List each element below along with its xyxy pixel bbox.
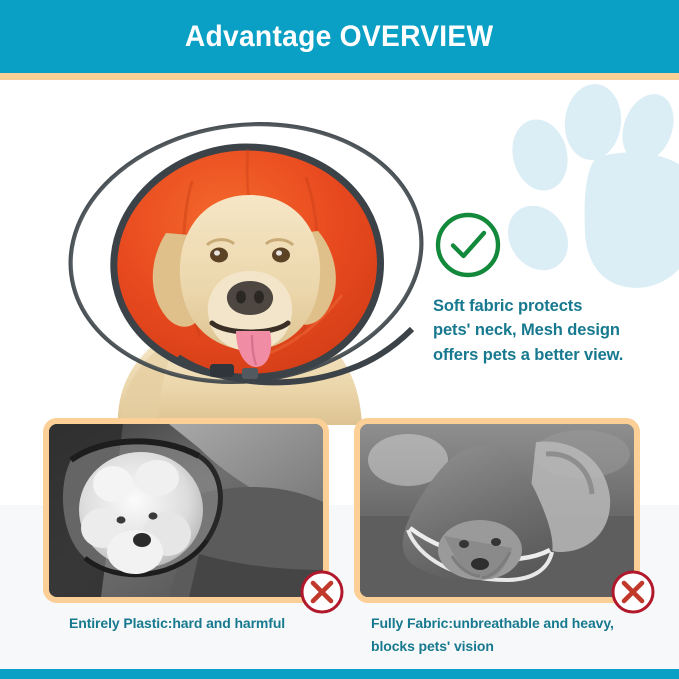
check-circle-icon — [433, 210, 503, 280]
comparison-card-plastic[interactable] — [43, 418, 329, 603]
header-bar: Advantage OVERVIEW — [0, 0, 679, 73]
x-circle-icon — [610, 569, 656, 615]
comparison-caption-fabric: Fully Fabric:unbreathable and heavy, blo… — [371, 612, 661, 657]
fabric-cone-photo — [360, 424, 634, 597]
advantage-feature-text: Soft fabric protects pets' neck, Mesh de… — [433, 294, 648, 367]
advantage-overview-page: Advantage OVERVIEW — [0, 0, 679, 679]
plastic-cone-photo — [49, 424, 323, 597]
hero-product-photo — [60, 85, 430, 425]
header-accent-strip — [0, 73, 679, 80]
advantage-feature-block: Soft fabric protects pets' neck, Mesh de… — [433, 210, 648, 367]
page-title: Advantage OVERVIEW — [185, 20, 494, 54]
comparison-caption-plastic: Entirely Plastic:hard and harmful — [69, 612, 349, 635]
x-circle-icon — [299, 569, 345, 615]
footer-bar — [0, 669, 679, 679]
comparison-card-fabric[interactable] — [354, 418, 640, 603]
